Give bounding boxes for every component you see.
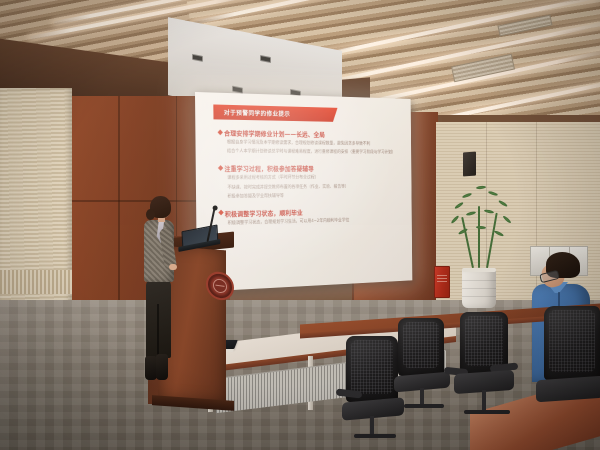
presenter-leg-split [157,304,159,360]
university-emblem-icon [206,270,234,302]
diamond-bullet-icon [218,165,223,171]
plant-leaf [494,230,504,237]
pot-rib [462,280,496,281]
slide-bullet-1: 合理安排学期修业计划——长远、全局 根据自身学习情况及本学期修读需求，合理规划修… [218,128,404,156]
office-chair[interactable] [446,312,520,428]
photo-scene: 对于预警同学的修业提示 合理安排学期修业计划——长远、全局 根据自身学习情况及本… [0,0,600,450]
potted-plant [432,178,528,308]
bullet-subtext: 不缺课、按时完成并提交教师布置的各项任务（作业、实验、报告等） [227,184,405,191]
chair-mesh [403,322,439,368]
downlight-icon [260,55,271,63]
acoustic-panel-perforated-band [0,270,72,294]
bullet-heading: 注重学习过程，积极参加答疑辅导 [219,164,405,173]
presenter-hair-bun [146,209,155,220]
chair-mesh [351,340,393,394]
plant-leaf [476,185,486,189]
bullet-heading: 合理安排学期修业计划——长远、全局 [218,128,404,139]
presenter-boot [156,354,168,380]
plant-pot [462,268,496,308]
pot-rib [462,296,496,297]
plant-leaf [484,209,494,214]
chair-base [404,404,444,408]
bullet-title-text: 注重学习过程，积极参加答疑辅导 [224,164,314,173]
chair-mesh [465,316,503,366]
slide-title-banner: 对于预警同学的修业提示 [213,104,337,121]
bullet-subtext: 根据自身学习情况及本学期修读需求，合理规划修读课程数量，避免因贪多导致不利 [227,141,405,148]
slide-content: 对于预警同学的修业提示 合理安排学期修业计划——长远、全局 根据自身学习情况及本… [206,104,406,283]
plant-stem [486,213,497,268]
bullet-subtext: 积极调整学习状态，合理规划学习生活，可以用4~2年内顺利毕业学位 [228,217,406,227]
presenter [134,196,186,386]
bullet-title-text: 合理安排学期修业计划——长远、全局 [224,128,325,138]
plant-leaf [502,215,511,224]
plant-leaf [462,192,472,198]
downlight-icon [192,54,203,62]
slide-title-text: 对于预警同学的修业提示 [213,107,290,118]
chair-post [370,416,374,436]
diamond-bullet-icon [218,129,223,135]
wall-speaker [463,152,476,177]
chair-seat [536,376,600,403]
chair-mesh [549,310,595,372]
plant-stem [461,217,473,268]
bullet-subtext: 课程多采用过程考核的方式（平时环节分布全过程） [227,176,405,183]
presenter-hand [169,264,177,270]
slide-bullet-3: 积极调整学习状态，顺利毕业 积极调整学习状态，合理规划学习生活，可以用4~2年内… [219,206,405,227]
slide-bullet-2: 注重学习过程，积极参加答疑辅导 课程多采用过程考核的方式（平时环节分布全过程） … [219,164,406,200]
plant-leaf [454,201,464,209]
diamond-bullet-icon [218,210,223,216]
plant-leaf [498,200,508,208]
plant-leaf [488,191,498,197]
chair-back [544,306,600,380]
bullet-subtext: 结合个人本学期计划修读总学时与课程难易程度，进行重修课程的安排（重要学习阶段与学… [227,150,405,157]
bullet-subtext: 积极参加答疑及学业帮扶辅导等 [227,192,405,200]
bullet-heading: 积极调整学习状态，顺利毕业 [219,206,405,218]
chair-post [482,390,486,412]
chair-base [354,434,396,438]
bullet-title-text: 积极调整学习状态，顺利毕业 [225,208,303,218]
plant-leaf [458,228,468,235]
office-chair[interactable] [524,306,600,426]
plant-stem [478,206,480,268]
chair-base [464,410,510,414]
plant-leaf [450,215,459,224]
chair-back [398,318,444,376]
plant-leaf [466,211,476,216]
pot-rib [462,288,496,289]
